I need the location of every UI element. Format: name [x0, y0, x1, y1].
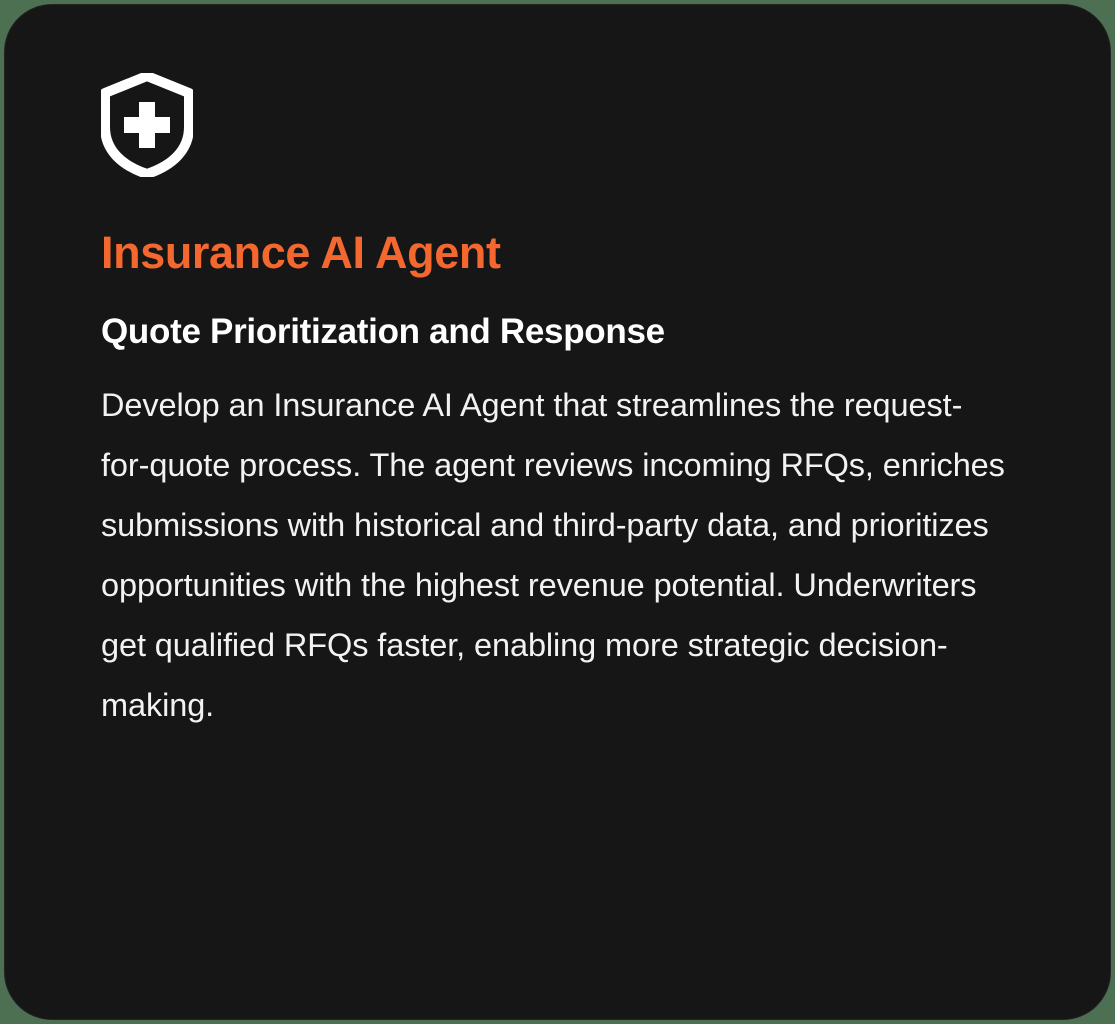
shield-cross-icon — [101, 73, 193, 177]
insurance-ai-agent-card: Insurance AI Agent Quote Prioritization … — [4, 4, 1111, 1020]
page-subtitle: Quote Prioritization and Response — [101, 307, 665, 357]
page-title: Insurance AI Agent — [101, 225, 501, 281]
description-text: Develop an Insurance AI Agent that strea… — [101, 375, 1006, 735]
card-content: Insurance AI Agent Quote Prioritization … — [101, 5, 1050, 1019]
